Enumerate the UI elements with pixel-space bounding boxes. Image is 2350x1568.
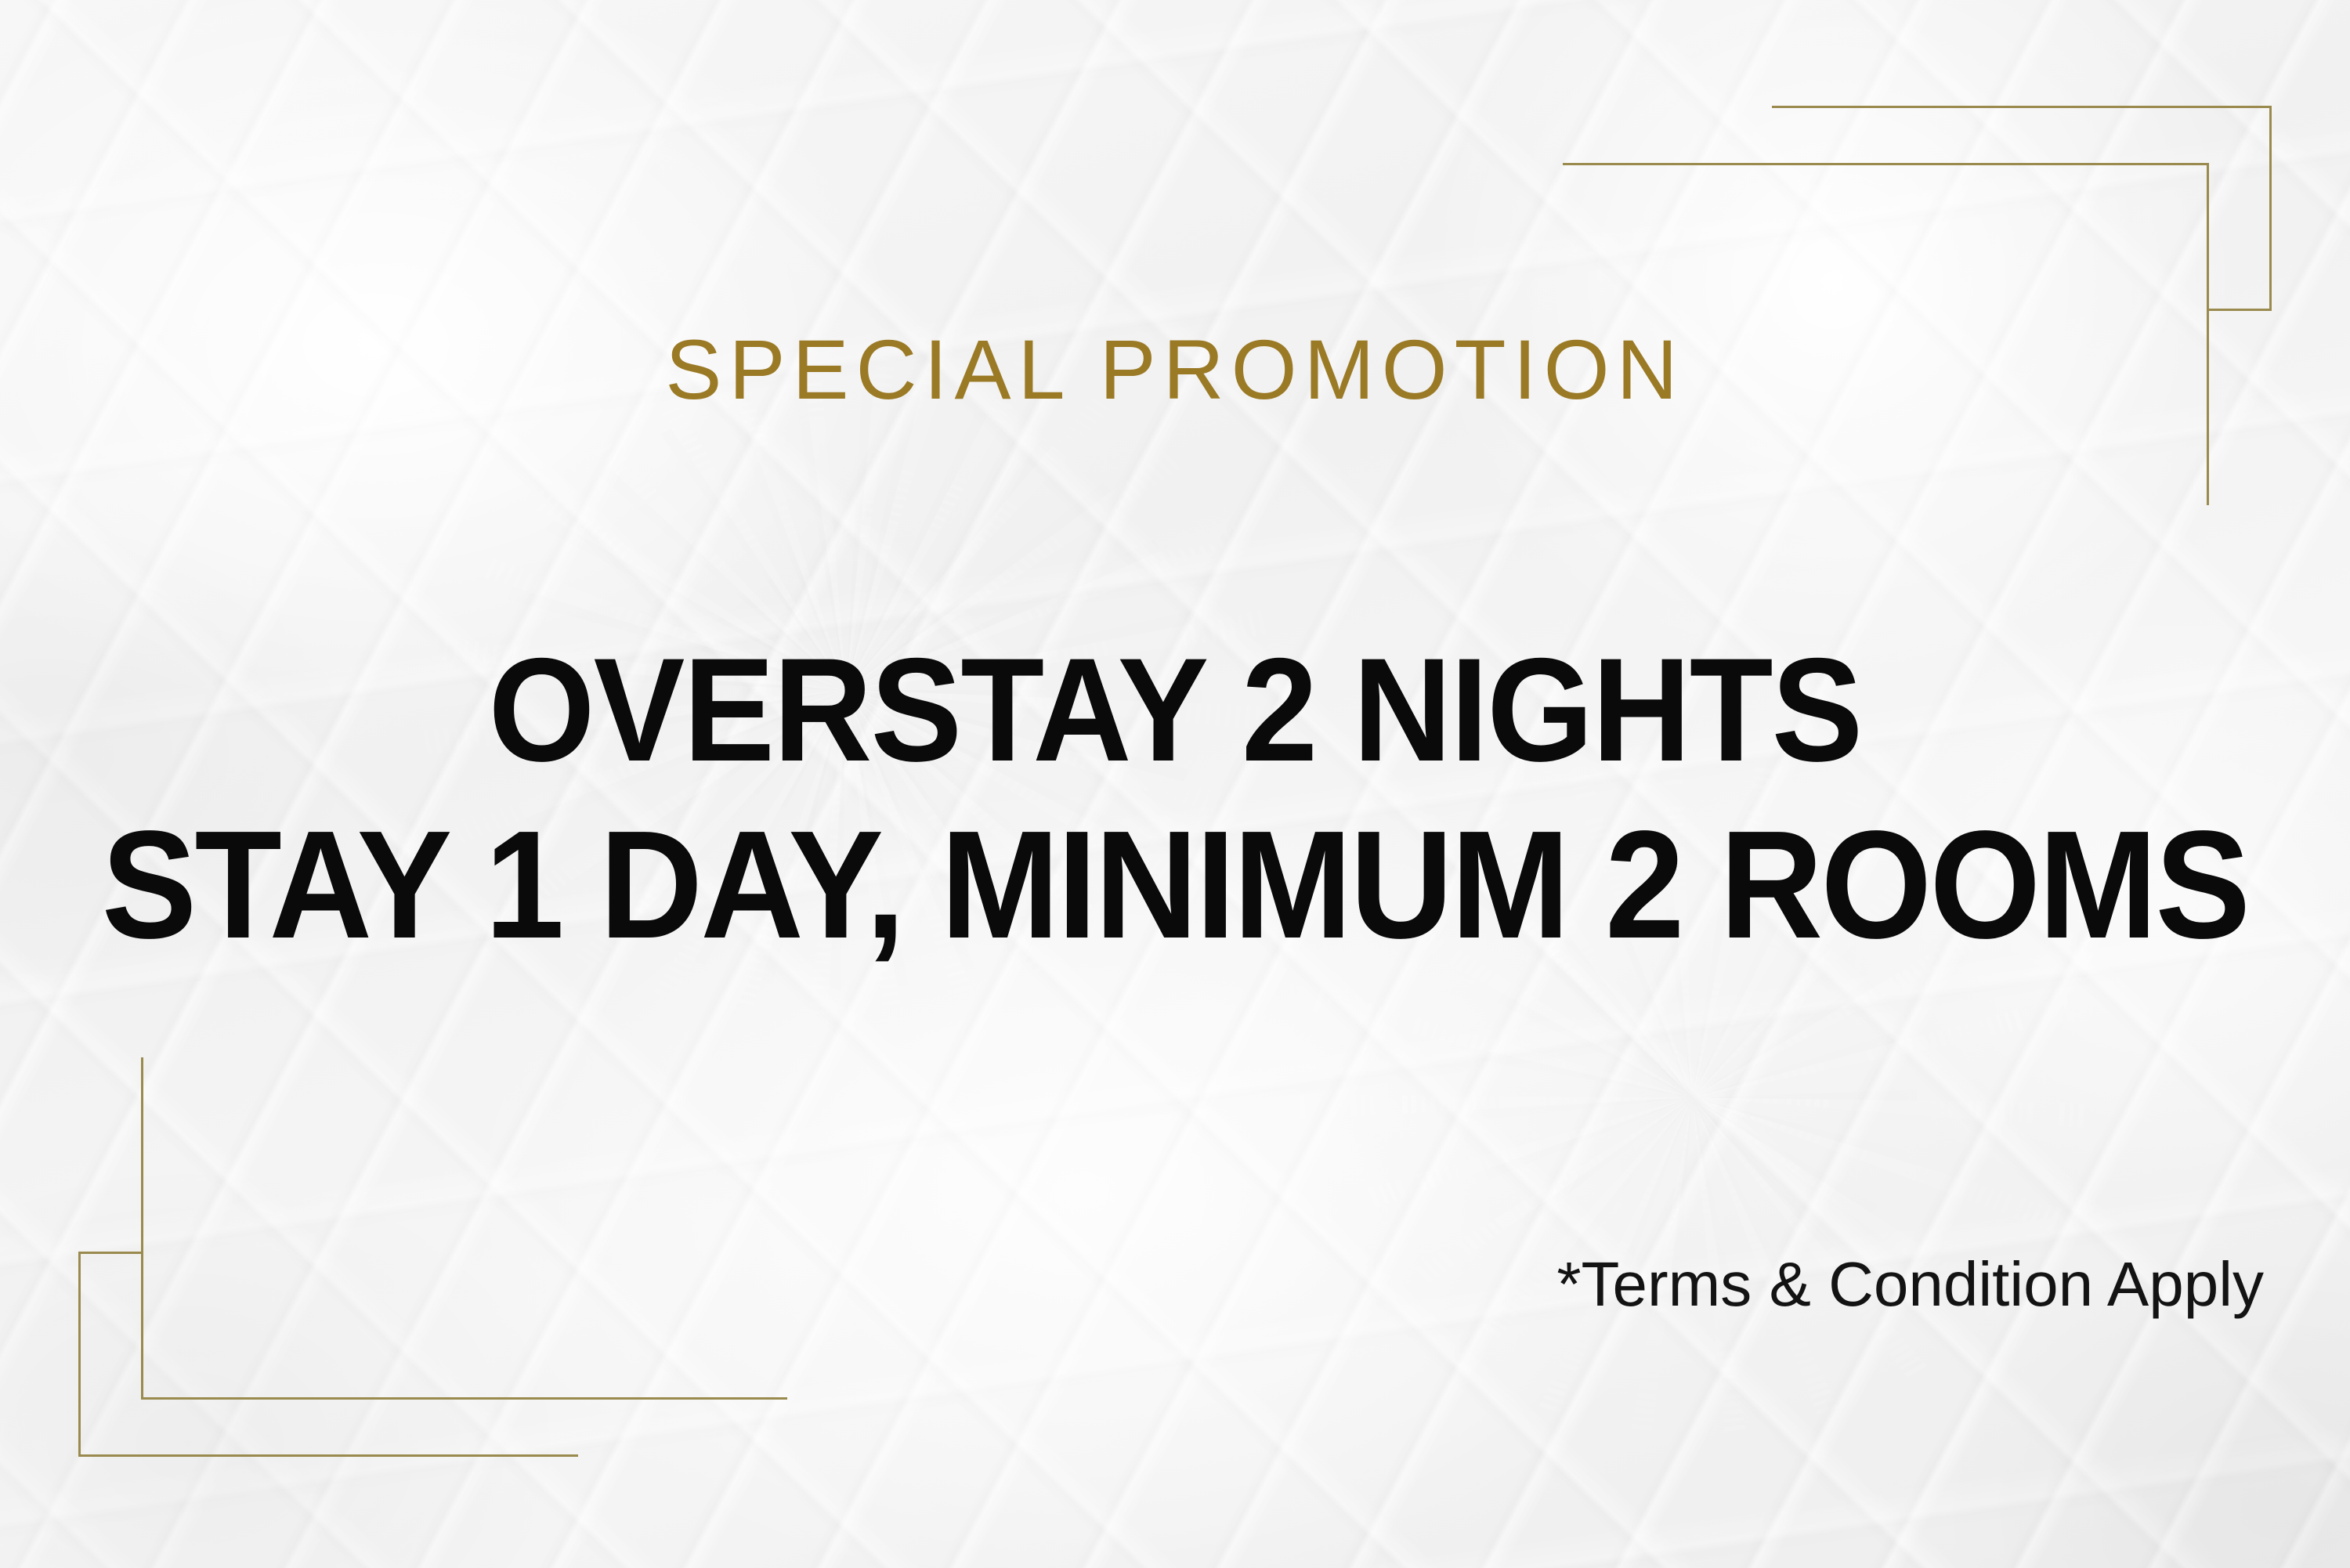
ornament-inner-vertical-rule (141, 1057, 143, 1400)
terms-and-conditions-note: *Terms & Condition Apply (1556, 1253, 2264, 1316)
ornament-outer-horizontal-rule (78, 1454, 578, 1457)
promotion-poster: SPECIAL PROMOTION OVERSTAY 2 NIGHTS STAY… (0, 0, 2350, 1568)
gold-corner-bracket-bottom-left (78, 1053, 787, 1461)
ornament-outer-vertical-rule (78, 1252, 81, 1457)
promotion-eyebrow-label: SPECIAL PROMOTION (0, 327, 2350, 412)
ornament-inner-horizontal-rule (141, 1397, 787, 1400)
ornament-outer-foot-rule (2207, 309, 2272, 311)
headline-line-1: OVERSTAY 2 NIGHTS (82, 636, 2268, 783)
headline-line-2: STAY 1 DAY, MINIMUM 2 ROOMS (82, 808, 2268, 962)
gold-corner-bracket-top-right (1563, 102, 2272, 509)
ornament-outer-foot-rule (78, 1252, 143, 1254)
ornament-inner-horizontal-rule (1563, 163, 2209, 165)
ornament-outer-vertical-rule (2269, 106, 2272, 311)
ornament-outer-horizontal-rule (1772, 106, 2272, 108)
